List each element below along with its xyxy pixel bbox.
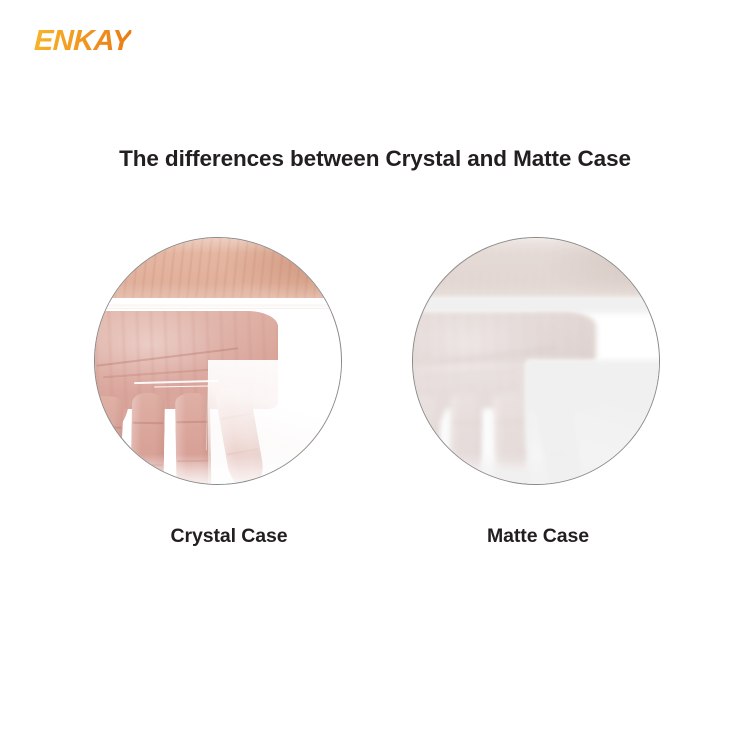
hand-through-case [94,311,342,485]
hand-through-case [412,311,660,485]
crystal-case-photo [94,237,342,485]
bare-skin-strip [94,237,342,298]
enkay-brand-logo: ENKAY [33,27,131,56]
page-title: The differences between Crystal and Matt… [0,146,750,172]
bottom-fade [412,454,660,485]
comparison-item-crystal: Crystal Case [94,237,344,577]
comparison-item-matte: Matte Case [412,237,662,577]
comparison-row: Crystal Case [0,237,750,577]
bottom-fade [94,454,342,485]
crystal-case-label: Crystal Case [104,525,354,548]
matte-case-label: Matte Case [413,525,663,548]
crystal-case-scene [94,237,342,485]
matte-case-photo [412,237,660,485]
bare-skin-strip [412,237,660,298]
matte-case-scene [412,237,660,485]
product-comparison-image: ENKAY The differences between Crystal an… [0,0,750,750]
